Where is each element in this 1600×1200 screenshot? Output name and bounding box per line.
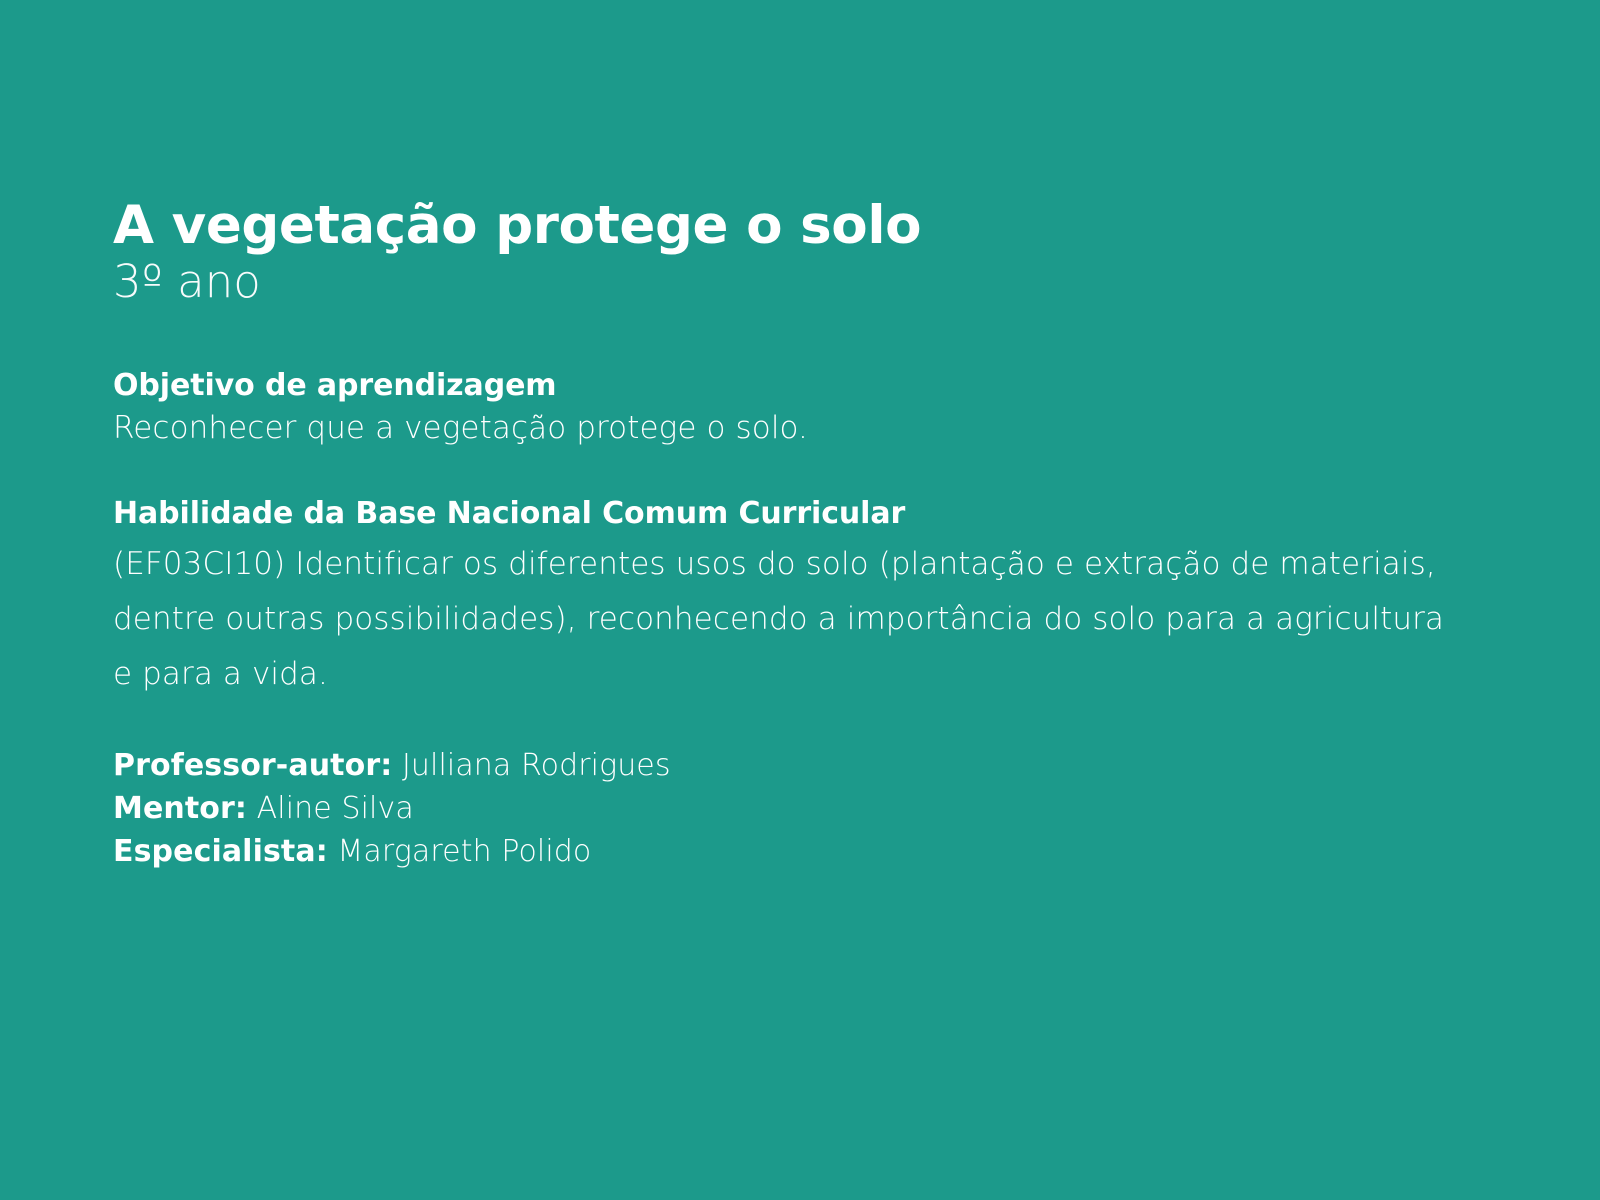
- section-heading-objetivo: Objetivo de aprendizagem: [113, 366, 1453, 406]
- section-body-objetivo: Reconhecer que a vegetação protege o sol…: [113, 408, 1453, 450]
- slide-root: A vegetação protege o solo 3º ano Objeti…: [0, 0, 1600, 1200]
- page-title: A vegetação protege o solo: [113, 196, 1453, 255]
- slide-content: A vegetação protege o solo 3º ano Objeti…: [113, 196, 1453, 874]
- credit-line-mentor: Mentor: Aline Silva: [113, 788, 1453, 831]
- section-body-habilidade: (EF03CI10) Identificar os diferentes uso…: [113, 537, 1453, 702]
- section-habilidade: Habilidade da Base Nacional Comum Curric…: [113, 494, 1453, 701]
- credit-value-mentor: Aline Silva: [247, 791, 414, 826]
- credit-line-especialista: Especialista: Margareth Polido: [113, 831, 1453, 874]
- credit-label-professor-autor: Professor-autor:: [113, 748, 392, 783]
- credits-block: Professor-autor: Julliana Rodrigues Ment…: [113, 745, 1453, 874]
- credit-line-professor-autor: Professor-autor: Julliana Rodrigues: [113, 745, 1453, 788]
- page-subtitle: 3º ano: [113, 257, 1453, 307]
- credit-value-professor-autor: Julliana Rodrigues: [392, 748, 670, 783]
- credit-value-especialista: Margareth Polido: [328, 834, 592, 869]
- credit-label-mentor: Mentor:: [113, 791, 247, 826]
- section-objetivo: Objetivo de aprendizagem Reconhecer que …: [113, 366, 1453, 450]
- title-block: A vegetação protege o solo 3º ano: [113, 196, 1453, 308]
- credit-label-especialista: Especialista:: [113, 834, 328, 869]
- section-heading-habilidade: Habilidade da Base Nacional Comum Curric…: [113, 494, 1453, 534]
